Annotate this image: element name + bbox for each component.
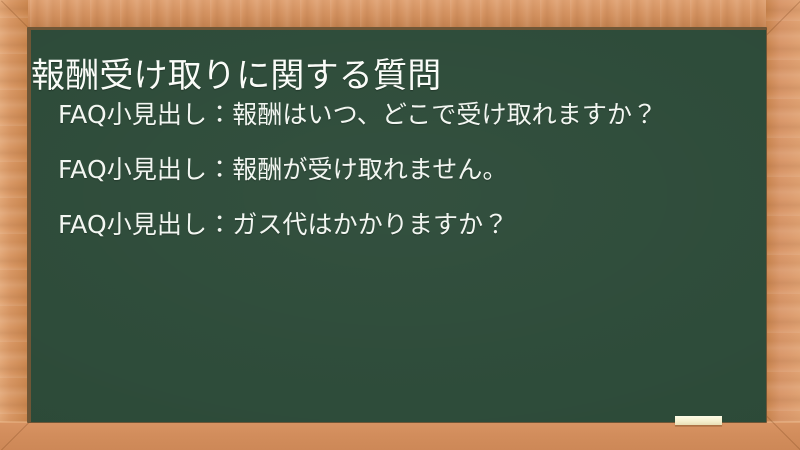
- frame-rail-top: [0, 0, 800, 30]
- faq-list-item-3: FAQ小見出し：ガス代はかかりますか？: [58, 206, 748, 244]
- faq-list-item-2: FAQ小見出し：報酬が受け取れません。: [58, 151, 748, 189]
- frame-rail-left: [0, 0, 28, 450]
- frame-rail-right: [766, 0, 800, 450]
- chalkboard-slide: 報酬受け取りに関する質問 FAQ小見出し：報酬はいつ、どこで受け取れますか？ F…: [0, 0, 800, 450]
- chalkboard-content: 報酬受け取りに関する質問 FAQ小見出し：報酬はいつ、どこで受け取れますか？ F…: [31, 30, 766, 422]
- faq-list-item-1: FAQ小見出し：報酬はいつ、どこで受け取れますか？: [58, 96, 748, 134]
- faq-list: FAQ小見出し：報酬はいつ、どこで受け取れますか？ FAQ小見出し：報酬が受け取…: [58, 96, 748, 244]
- page-title: 報酬受け取りに関する質問: [31, 55, 751, 97]
- chalk-stick-icon: [675, 416, 722, 425]
- chalk-shadow: [675, 425, 722, 427]
- chalkboard-surface: 報酬受け取りに関する質問 FAQ小見出し：報酬はいつ、どこで受け取れますか？ F…: [31, 30, 766, 422]
